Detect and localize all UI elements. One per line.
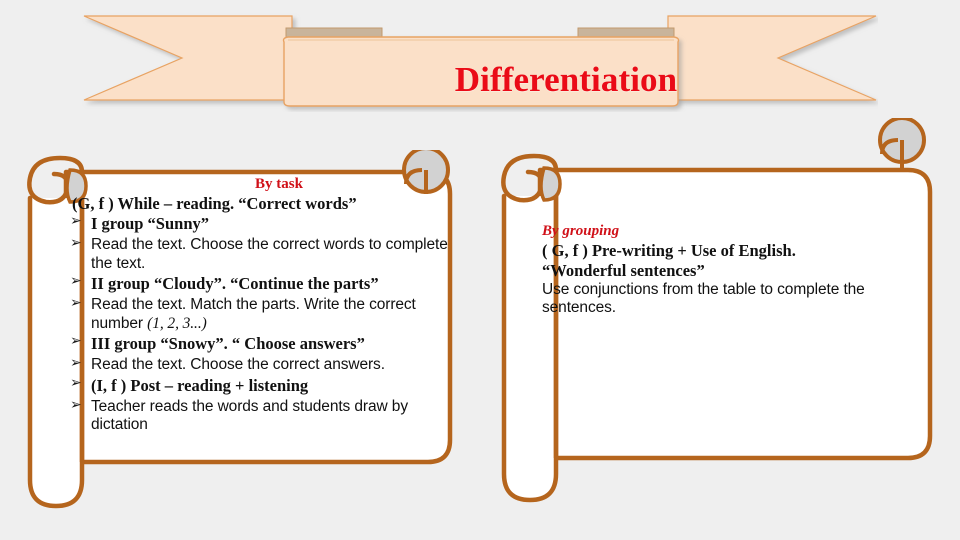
right-scroll-line: ( G, f ) Pre-writing + Use of English. bbox=[542, 241, 932, 260]
list-item-label: Read the text. Choose the correct answer… bbox=[91, 356, 385, 373]
right-scroll-content: By grouping ( G, f ) Pre-writing + Use o… bbox=[542, 223, 932, 463]
page-title: Differentiation bbox=[368, 56, 764, 104]
bullet-arrow-icon: ➢ bbox=[70, 355, 82, 373]
right-scroll-line: “Wonderful sentences” bbox=[542, 261, 932, 280]
list-item-label: I group “Sunny” bbox=[91, 214, 209, 233]
list-item-label: II group “Cloudy”. “Continue the parts” bbox=[91, 274, 379, 293]
list-item: ➢(I, f ) Post – reading + listening bbox=[70, 376, 448, 397]
list-item: ➢Read the text. Choose the correct answe… bbox=[70, 356, 448, 375]
right-scroll-curl-inner bbox=[541, 168, 560, 200]
bullet-arrow-icon: ➢ bbox=[70, 213, 82, 231]
title-banner: Differentiation bbox=[82, 12, 878, 112]
list-item: ➢Read the text. Match the parts. Write t… bbox=[70, 296, 448, 333]
bullet-arrow-icon: ➢ bbox=[70, 235, 82, 253]
slide-canvas: Differentiation By task (G, f ) While – … bbox=[0, 0, 960, 540]
list-item: ➢Teacher reads the words and students dr… bbox=[70, 398, 448, 435]
list-item-label: III group “Snowy”. “ Choose answers” bbox=[91, 334, 365, 353]
right-scroll-heading: By grouping bbox=[542, 223, 932, 240]
list-item: ➢II group “Cloudy”. “Continue the parts” bbox=[70, 274, 448, 295]
bullet-arrow-icon: ➢ bbox=[70, 375, 82, 393]
list-item-label: Read the text. Choose the correct words … bbox=[91, 236, 448, 272]
list-item-label: Teacher reads the words and students dra… bbox=[91, 398, 408, 434]
left-scroll-content: By task (G, f ) While – reading. “Correc… bbox=[70, 176, 448, 476]
banner-left-wing bbox=[84, 16, 292, 100]
list-item: ➢I group “Sunny” bbox=[70, 214, 448, 235]
list-item-text: Read the text. Match the parts. Write th… bbox=[91, 296, 416, 332]
left-scroll-panel: By task (G, f ) While – reading. “Correc… bbox=[8, 150, 460, 540]
left-scroll-lead: (G, f ) While – reading. “Correct words” bbox=[72, 194, 448, 213]
bullet-arrow-icon: ➢ bbox=[70, 333, 82, 351]
bullet-arrow-icon: ➢ bbox=[70, 397, 82, 415]
bullet-arrow-icon: ➢ bbox=[70, 295, 82, 313]
list-item: ➢Read the text. Choose the correct words… bbox=[70, 236, 448, 273]
bullet-arrow-icon: ➢ bbox=[70, 273, 82, 291]
left-scroll-heading: By task bbox=[70, 176, 448, 193]
list-item-italic-tail: (1, 2, 3...) bbox=[147, 315, 207, 332]
right-scroll-panel: By grouping ( G, f ) Pre-writing + Use o… bbox=[490, 118, 950, 518]
list-item: ➢III group “Snowy”. “ Choose answers” bbox=[70, 334, 448, 355]
list-item-label: Read the text. Match the parts. Write th… bbox=[91, 296, 416, 332]
left-scroll-list: ➢I group “Sunny” ➢Read the text. Choose … bbox=[70, 214, 448, 435]
list-item-label: (I, f ) Post – reading + listening bbox=[91, 376, 308, 395]
right-scroll-line: Use conjunctions from the table to compl… bbox=[542, 281, 932, 317]
